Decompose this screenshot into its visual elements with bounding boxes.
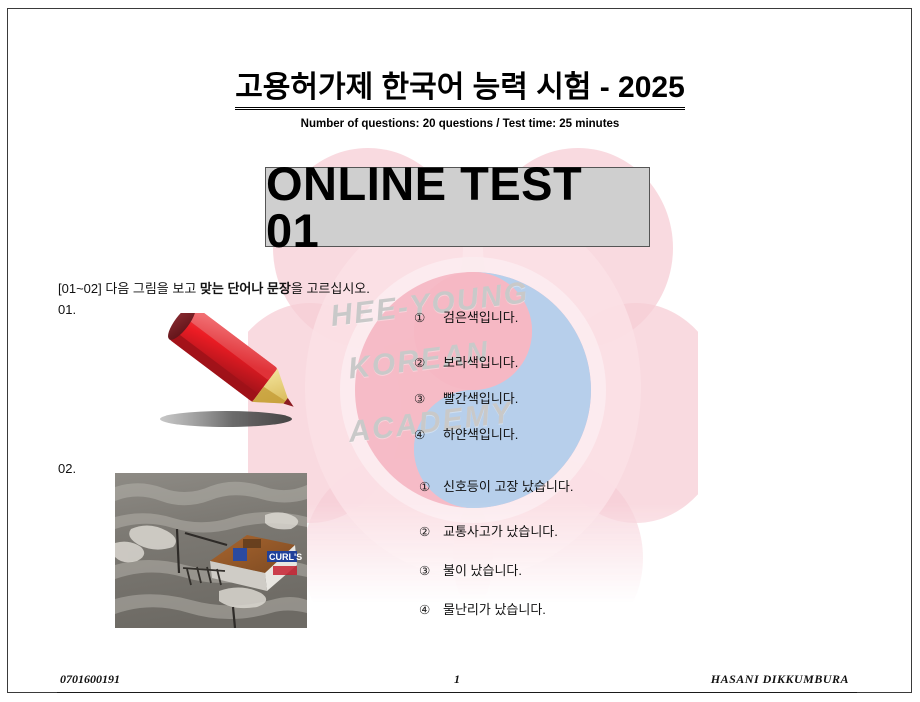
option-row[interactable]: ② 교통사고가 났습니다. — [419, 521, 558, 540]
instruction-lead: 다음 그림을 보고 — [105, 281, 200, 296]
option-text: 빨간색입니다. — [443, 388, 518, 407]
option-row[interactable]: ④ 물난리가 났습니다. — [419, 599, 546, 618]
option-row[interactable]: ③ 빨간색입니다. — [414, 388, 518, 407]
question-number-01: 01. — [58, 302, 76, 317]
option-row[interactable]: ① 신호등이 고장 났습니다. — [419, 476, 573, 495]
instruction-line: [01~02] 다음 그림을 보고 맞는 단어나 문장을 고르십시오. — [58, 278, 370, 297]
option-text: 교통사고가 났습니다. — [443, 521, 558, 540]
option-text: 하얀색입니다. — [443, 424, 518, 443]
flood-building-sign: CURL'S — [269, 552, 302, 562]
option-marker: ① — [414, 310, 443, 325]
option-row[interactable]: ② 보라색입니다. — [414, 352, 518, 371]
option-marker: ② — [419, 524, 443, 539]
option-row[interactable]: ④ 하얀색입니다. — [414, 424, 518, 443]
option-marker: ③ — [414, 391, 443, 406]
pencil-shadow — [160, 411, 292, 427]
page-footer: 0701600191 1 HASANI DIKKUMBURA — [57, 672, 857, 693]
option-text: 보라색입니다. — [443, 352, 518, 371]
option-marker: ④ — [414, 427, 443, 442]
test-info-subtitle: Number of questions: 20 questions / Test… — [0, 118, 920, 130]
footer-author-name: HASANI DIKKUMBURA — [711, 672, 849, 687]
option-marker: ③ — [419, 563, 443, 578]
instruction-tail: 을 고르십시오. — [291, 281, 370, 296]
red-pencil-illustration — [148, 313, 328, 435]
option-marker: ① — [419, 479, 443, 494]
question-number-02: 02. — [58, 461, 76, 476]
online-test-banner-label: ONLINE TEST 01 — [266, 160, 649, 254]
option-marker: ④ — [419, 602, 443, 617]
option-marker: ② — [414, 355, 443, 370]
option-text: 물난리가 났습니다. — [443, 599, 546, 618]
page-title: 고용허가제 한국어 능력 시험 - 2025 — [0, 62, 920, 106]
page-title-text: 고용허가제 한국어 능력 시험 - 2025 — [235, 71, 685, 110]
option-text: 불이 났습니다. — [443, 560, 522, 579]
pencil-body — [164, 313, 307, 424]
instruction-bold: 맞는 단어나 문장 — [200, 281, 291, 296]
option-text: 검은색입니다. — [443, 307, 518, 326]
option-row[interactable]: ③ 불이 났습니다. — [419, 560, 522, 579]
online-test-banner: ONLINE TEST 01 — [265, 167, 650, 247]
instruction-range: [01~02] — [58, 281, 105, 296]
flood-photo: CURL'S — [115, 473, 307, 628]
option-row[interactable]: ① 검은색입니다. — [414, 307, 518, 326]
test-page: HEE-YOUNG KOREAN ACADEMY 고용허가제 한국어 능력 시험… — [0, 0, 920, 702]
option-text: 신호등이 고장 났습니다. — [443, 476, 573, 495]
